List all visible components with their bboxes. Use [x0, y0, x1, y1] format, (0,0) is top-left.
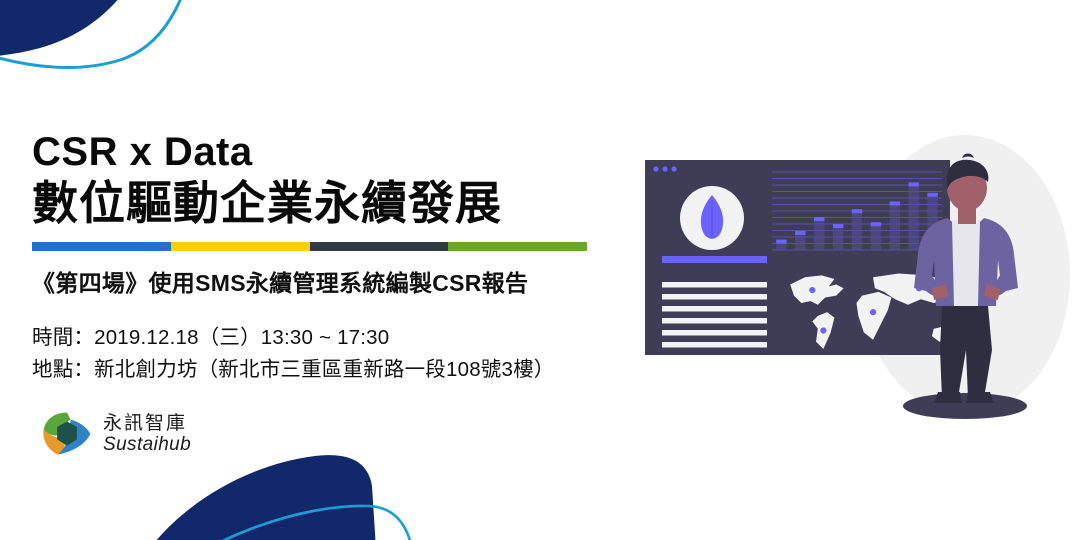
- color-bar-segment-green: [448, 242, 587, 251]
- logo-name-english: Sustaihub: [103, 434, 191, 455]
- chart-bar-cap: [890, 201, 900, 205]
- event-time: 時間：2019.12.18（三）13:30 ~ 17:30: [32, 322, 612, 354]
- chart-bar-cap: [908, 182, 918, 186]
- text-line: [662, 306, 767, 312]
- chart-bar-column: [814, 217, 824, 250]
- chart-bar-cap: [852, 209, 862, 213]
- text-line: [662, 294, 767, 300]
- chart-bar-column: [871, 222, 881, 250]
- chart-bar-cap: [795, 231, 805, 235]
- sustaihub-logo-icon: [40, 408, 94, 460]
- cyan-curve-top-left: [0, 0, 190, 68]
- color-bar-segment-charcoal: [310, 242, 449, 251]
- text-line: [662, 282, 767, 288]
- chart-bar-cap: [776, 240, 786, 244]
- map-marker-africa: [870, 309, 876, 315]
- title-chinese: 數位驅動企業永續發展: [32, 176, 612, 230]
- window-dot-2: [662, 166, 667, 171]
- person-shoe-left: [934, 392, 962, 403]
- title-english: CSR x Data: [32, 132, 612, 172]
- cyan-curve-bottom: [160, 506, 416, 540]
- logo-wordmark: 永訊智庫 Sustaihub: [103, 413, 191, 456]
- chart-bar-column: [890, 201, 900, 250]
- window-dot-3: [671, 166, 676, 171]
- color-bar-divider: [32, 242, 587, 251]
- event-info: 時間：2019.12.18（三）13:30 ~ 17:30 地點：新北創力坊（新…: [32, 322, 612, 386]
- accent-bar: [662, 256, 767, 263]
- subtitle: 《第四場》使用SMS永續管理系統編製CSR報告: [32, 264, 612, 298]
- navy-blob-top-left: [0, 0, 152, 57]
- decoration-top-left: [0, 0, 190, 100]
- window-dot-1: [653, 166, 658, 171]
- chart-bar-cap: [927, 193, 937, 197]
- chart-bar-cap: [871, 222, 881, 226]
- person-shadow: [903, 393, 1027, 419]
- color-bar-segment-yellow: [171, 242, 310, 251]
- organization-logo: 永訊智庫 Sustaihub: [40, 408, 191, 460]
- text-line: [662, 318, 767, 324]
- leaf-badge: [680, 186, 744, 250]
- chart-bar-cap: [833, 224, 843, 228]
- poster-canvas: CSR x Data 數位驅動企業永續發展 《第四場》使用SMS永續管理系統編製…: [0, 0, 1080, 540]
- text-line: [662, 330, 767, 336]
- chart-bar-column: [908, 182, 918, 250]
- navy-blob-bottom: [130, 455, 378, 540]
- map-marker-north-america: [809, 287, 815, 293]
- chart-bar-cap: [814, 217, 824, 221]
- person-shoe-right: [966, 392, 994, 403]
- window-dots: [653, 166, 676, 171]
- logo-name-chinese: 永訊智庫: [103, 413, 191, 434]
- color-bar-segment-blue: [32, 242, 171, 251]
- text-line: [662, 342, 767, 348]
- event-location: 地點：新北創力坊（新北市三重區重新路一段108號3樓）: [32, 354, 612, 386]
- chart-bar-column: [852, 209, 862, 250]
- text-block: CSR x Data 數位驅動企業永續發展 《第四場》使用SMS永續管理系統編製…: [32, 132, 612, 386]
- map-marker-south-america: [820, 327, 826, 333]
- illustration: [620, 110, 1080, 440]
